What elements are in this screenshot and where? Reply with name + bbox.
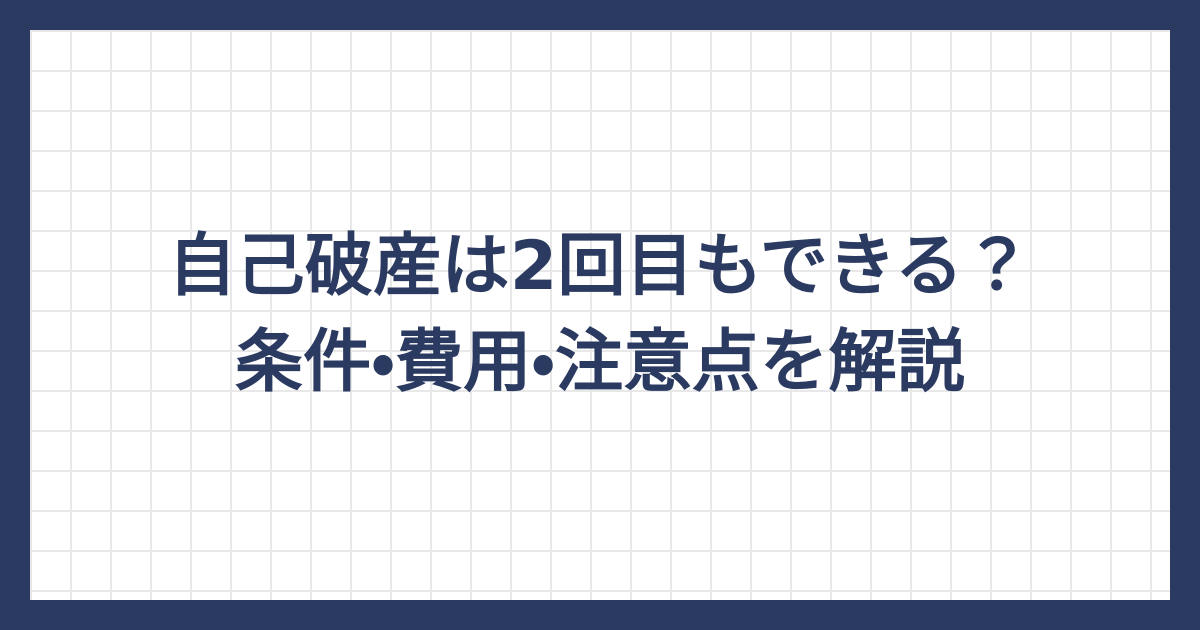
headline-line-1: 自己破産は2回目もできる？: [54, 223, 1146, 311]
headline-line-2: 条件・費用・注意点を解説: [54, 319, 1146, 407]
ogp-card: 自己破産は2回目もできる？ 条件・費用・注意点を解説: [0, 0, 1200, 630]
headline-block: 自己破産は2回目もできる？ 条件・費用・注意点を解説: [30, 30, 1170, 600]
